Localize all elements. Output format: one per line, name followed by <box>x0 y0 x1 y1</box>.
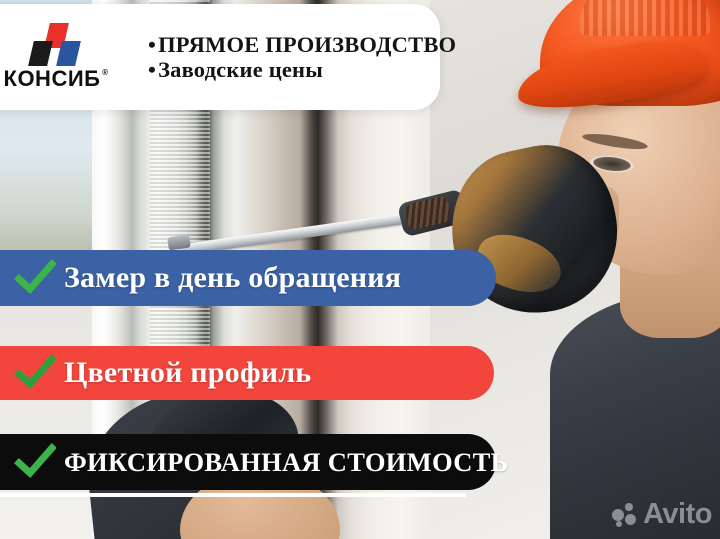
avito-wordmark: Avito <box>643 500 712 529</box>
feature-banner-measurement: Замер в день обращения <box>0 250 496 306</box>
header-panel: КОНСИБ ® •ПРЯМОЕ ПРОИЗВОДСТВО •Заводские… <box>0 4 440 110</box>
header-bullet-text: Заводские цены <box>158 57 323 82</box>
header-bullet-list: •ПРЯМОЕ ПРОИЗВОДСТВО •Заводские цены <box>108 32 456 82</box>
registered-trademark-icon: ® <box>102 68 108 77</box>
divider-line <box>0 493 466 497</box>
brand-name: КОНСИБ ® <box>4 66 101 92</box>
avito-dot <box>616 521 622 527</box>
logo-shape-black <box>28 41 53 66</box>
feature-banner-fixed-price: ФИКСИРОВАННАЯ СТОИМОСТЬ <box>0 434 496 490</box>
hard-hat-ribs <box>580 0 710 36</box>
advertisement-banner: КОНСИБ ® •ПРЯМОЕ ПРОИЗВОДСТВО •Заводские… <box>0 0 720 539</box>
brand-name-text: КОНСИБ <box>4 66 101 91</box>
checkmark-icon <box>14 352 56 394</box>
avito-dot <box>625 503 633 511</box>
checkmark-icon <box>14 441 56 483</box>
bullet-marker-icon: • <box>148 57 156 82</box>
feature-label: ФИКСИРОВАННАЯ СТОИМОСТЬ <box>64 447 508 478</box>
header-bullet-text: ПРЯМОЕ ПРОИЗВОДСТВО <box>158 32 456 57</box>
feature-banner-color-profile: Цветной профиль <box>0 346 494 400</box>
feature-label: Замер в день обращения <box>64 261 401 295</box>
header-bullet-item: •ПРЯМОЕ ПРОИЗВОДСТВО <box>148 32 456 57</box>
avito-watermark: Avito <box>612 500 712 529</box>
checkmark-icon <box>14 257 56 299</box>
header-bullet-item: •Заводские цены <box>148 57 456 82</box>
avito-dot <box>625 514 636 525</box>
konsib-logo-icon <box>25 23 79 65</box>
brand-logo: КОНСИБ ® <box>2 23 102 92</box>
feature-label: Цветной профиль <box>64 356 311 390</box>
avito-dots-icon <box>612 503 638 527</box>
bullet-marker-icon: • <box>148 32 156 57</box>
avito-dot <box>612 509 624 521</box>
